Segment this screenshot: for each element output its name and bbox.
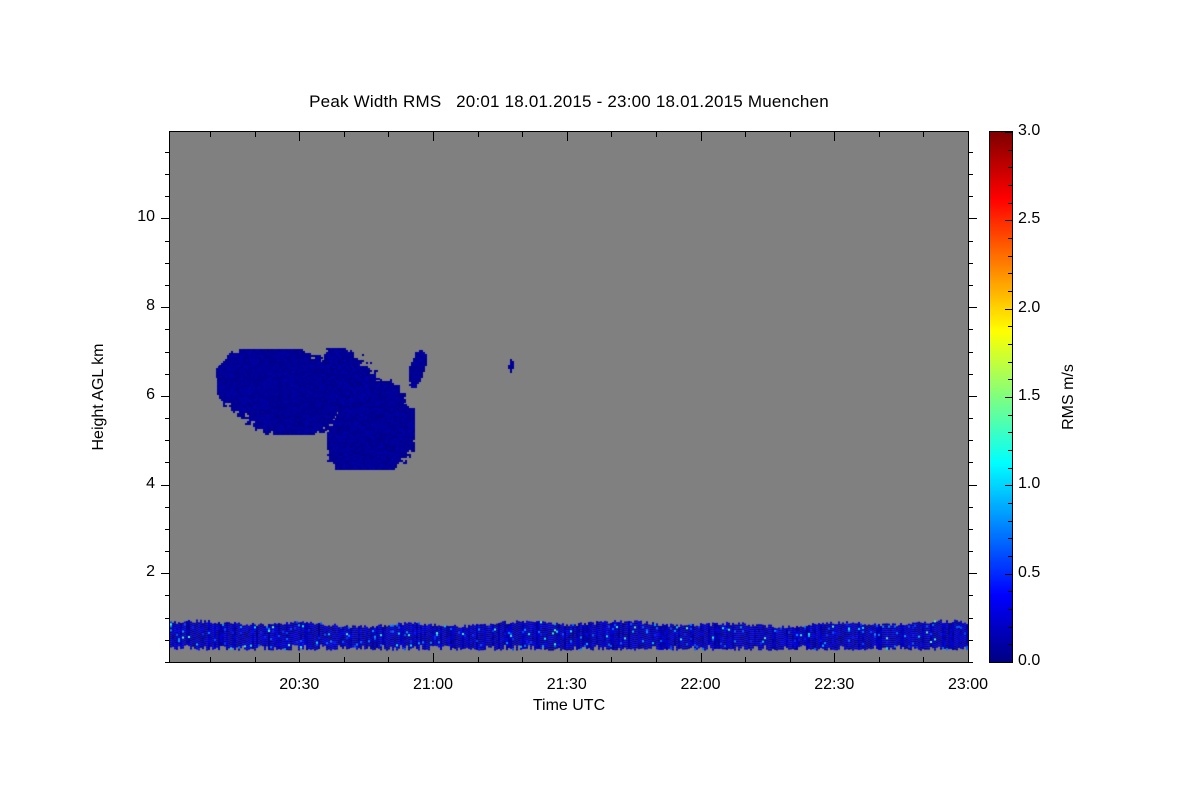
- colorbar-tick-minor: [1008, 167, 1012, 168]
- y-tick-minor: [165, 640, 170, 641]
- colorbar-tick-major: [1005, 397, 1012, 398]
- x-tick-top-minor: [522, 132, 523, 137]
- y-tick-label: 2: [0, 563, 155, 581]
- colorbar-tick-label: 1.0: [1018, 475, 1040, 493]
- x-tick-major: [701, 653, 702, 662]
- y-tick-major: [161, 218, 170, 219]
- y-tick-right-minor: [968, 374, 973, 375]
- colorbar-tick-label: 3.0: [1018, 122, 1040, 140]
- y-tick-label: 4: [0, 475, 155, 493]
- y-axis-label: Height AGL km: [90, 343, 108, 450]
- colorbar-tick-minor: [1008, 238, 1012, 239]
- x-tick-minor: [255, 657, 256, 662]
- y-tick-right-minor: [968, 618, 973, 619]
- x-tick-label: 22:00: [680, 676, 720, 694]
- y-tick-minor: [165, 595, 170, 596]
- y-tick-minor: [165, 174, 170, 175]
- colorbar-tick-label: 0.0: [1018, 652, 1040, 670]
- y-tick-minor: [165, 263, 170, 264]
- colorbar-tick-label: 1.5: [1018, 387, 1040, 405]
- y-tick-minor: [165, 618, 170, 619]
- x-tick-top-major: [701, 132, 702, 141]
- y-tick-label: 6: [0, 386, 155, 404]
- x-tick-top-minor: [790, 132, 791, 137]
- y-tick-minor: [165, 551, 170, 552]
- colorbar-tick-minor: [1008, 503, 1012, 504]
- x-tick-major: [299, 653, 300, 662]
- colorbar-tick-major: [1005, 662, 1012, 663]
- x-tick-label: 23:00: [948, 676, 988, 694]
- y-tick-right-major: [968, 307, 977, 308]
- y-tick-right-minor: [968, 418, 973, 419]
- y-tick-right-minor: [968, 595, 973, 596]
- y-tick-major: [161, 307, 170, 308]
- y-tick-right-minor: [968, 241, 973, 242]
- x-tick-minor: [790, 657, 791, 662]
- x-tick-label: 21:30: [547, 676, 587, 694]
- colorbar-tick-minor: [1008, 150, 1012, 151]
- x-tick-minor: [656, 657, 657, 662]
- y-tick-minor: [165, 352, 170, 353]
- colorbar-tick-minor: [1008, 185, 1012, 186]
- y-tick-minor: [165, 418, 170, 419]
- y-tick-right-minor: [968, 507, 973, 508]
- x-tick-top-minor: [923, 132, 924, 137]
- x-tick-minor: [745, 657, 746, 662]
- x-tick-minor: [478, 657, 479, 662]
- x-tick-major: [567, 653, 568, 662]
- x-tick-top-minor: [255, 132, 256, 137]
- y-tick-right-major: [968, 396, 977, 397]
- x-tick-top-major: [834, 132, 835, 141]
- colorbar-tick-minor: [1008, 326, 1012, 327]
- y-tick-right-minor: [968, 462, 973, 463]
- x-tick-top-minor: [388, 132, 389, 137]
- x-tick-minor: [923, 657, 924, 662]
- x-tick-top-minor: [344, 132, 345, 137]
- colorbar-tick-minor: [1008, 203, 1012, 204]
- colorbar-tick-label: 2.5: [1018, 210, 1040, 228]
- y-tick-major: [161, 573, 170, 574]
- plot-area: [170, 132, 968, 662]
- x-tick-top-major: [968, 132, 969, 141]
- colorbar-tick-minor: [1008, 521, 1012, 522]
- colorbar-tick-major: [1005, 309, 1012, 310]
- colorbar-tick-minor: [1008, 644, 1012, 645]
- x-tick-label: 21:00: [413, 676, 453, 694]
- colorbar-tick-minor: [1008, 362, 1012, 363]
- y-tick-right-minor: [968, 440, 973, 441]
- x-tick-label: 20:30: [279, 676, 319, 694]
- colorbar-tick-minor: [1008, 344, 1012, 345]
- y-tick-label: 8: [0, 297, 155, 315]
- colorbar-tick-minor: [1008, 273, 1012, 274]
- x-tick-top-major: [567, 132, 568, 141]
- x-axis-label: Time UTC: [170, 697, 968, 715]
- y-tick-right-major: [968, 485, 977, 486]
- colorbar-tick-major: [1005, 485, 1012, 486]
- colorbar-tick-minor: [1008, 609, 1012, 610]
- x-tick-top-minor: [656, 132, 657, 137]
- x-tick-top-major: [299, 132, 300, 141]
- colorbar-tick-label: 0.5: [1018, 564, 1040, 582]
- y-tick-minor: [165, 507, 170, 508]
- x-tick-top-minor: [210, 132, 211, 137]
- x-tick-major: [433, 653, 434, 662]
- colorbar-label: RMS m/s: [1060, 364, 1078, 430]
- y-tick-right-minor: [968, 152, 973, 153]
- y-tick-minor: [165, 440, 170, 441]
- y-tick-right-minor: [968, 640, 973, 641]
- x-tick-major: [834, 653, 835, 662]
- x-tick-minor: [611, 657, 612, 662]
- y-tick-right-major: [968, 573, 977, 574]
- x-tick-minor: [522, 657, 523, 662]
- colorbar-tick-minor: [1008, 591, 1012, 592]
- y-tick-right-minor: [968, 196, 973, 197]
- y-tick-minor: [165, 662, 170, 663]
- colorbar-tick-major: [1005, 220, 1012, 221]
- y-tick-major: [161, 485, 170, 486]
- colorbar-tick-minor: [1008, 627, 1012, 628]
- y-tick-minor: [165, 529, 170, 530]
- x-tick-minor: [344, 657, 345, 662]
- y-tick-right-minor: [968, 662, 973, 663]
- y-tick-minor: [165, 285, 170, 286]
- colorbar-tick-minor: [1008, 291, 1012, 292]
- x-tick-major: [968, 653, 969, 662]
- x-tick-top-major: [433, 132, 434, 141]
- y-tick-minor: [165, 152, 170, 153]
- y-tick-right-minor: [968, 263, 973, 264]
- y-tick-right-minor: [968, 352, 973, 353]
- x-tick-top-minor: [879, 132, 880, 137]
- colorbar-tick-minor: [1008, 256, 1012, 257]
- colorbar-tick-major: [1005, 132, 1012, 133]
- y-tick-right-major: [968, 218, 977, 219]
- x-tick-top-minor: [611, 132, 612, 137]
- x-tick-minor: [388, 657, 389, 662]
- y-tick-right-minor: [968, 285, 973, 286]
- plot-title: Peak Width RMS 20:01 18.01.2015 - 23:00 …: [170, 92, 968, 112]
- heatmap-data-layer: [170, 132, 968, 662]
- y-tick-minor: [165, 196, 170, 197]
- y-tick-right-minor: [968, 329, 973, 330]
- figure-canvas: Peak Width RMS 20:01 18.01.2015 - 23:00 …: [0, 0, 1200, 800]
- x-tick-minor: [210, 657, 211, 662]
- x-tick-label: 22:30: [814, 676, 854, 694]
- colorbar-tick-minor: [1008, 556, 1012, 557]
- colorbar-tick-minor: [1008, 468, 1012, 469]
- y-tick-right-minor: [968, 529, 973, 530]
- y-tick-major: [161, 396, 170, 397]
- colorbar-tick-minor: [1008, 450, 1012, 451]
- colorbar-tick-minor: [1008, 538, 1012, 539]
- colorbar-tick-minor: [1008, 432, 1012, 433]
- y-tick-label: 10: [0, 208, 155, 226]
- x-tick-minor: [879, 657, 880, 662]
- colorbar-tick-minor: [1008, 379, 1012, 380]
- y-tick-minor: [165, 462, 170, 463]
- x-tick-top-minor: [745, 132, 746, 137]
- y-tick-right-minor: [968, 551, 973, 552]
- x-tick-top-minor: [478, 132, 479, 137]
- colorbar-tick-major: [1005, 574, 1012, 575]
- y-tick-minor: [165, 241, 170, 242]
- y-tick-minor: [165, 329, 170, 330]
- colorbar-tick-minor: [1008, 415, 1012, 416]
- colorbar-tick-label: 2.0: [1018, 299, 1040, 317]
- y-tick-right-minor: [968, 174, 973, 175]
- y-tick-minor: [165, 374, 170, 375]
